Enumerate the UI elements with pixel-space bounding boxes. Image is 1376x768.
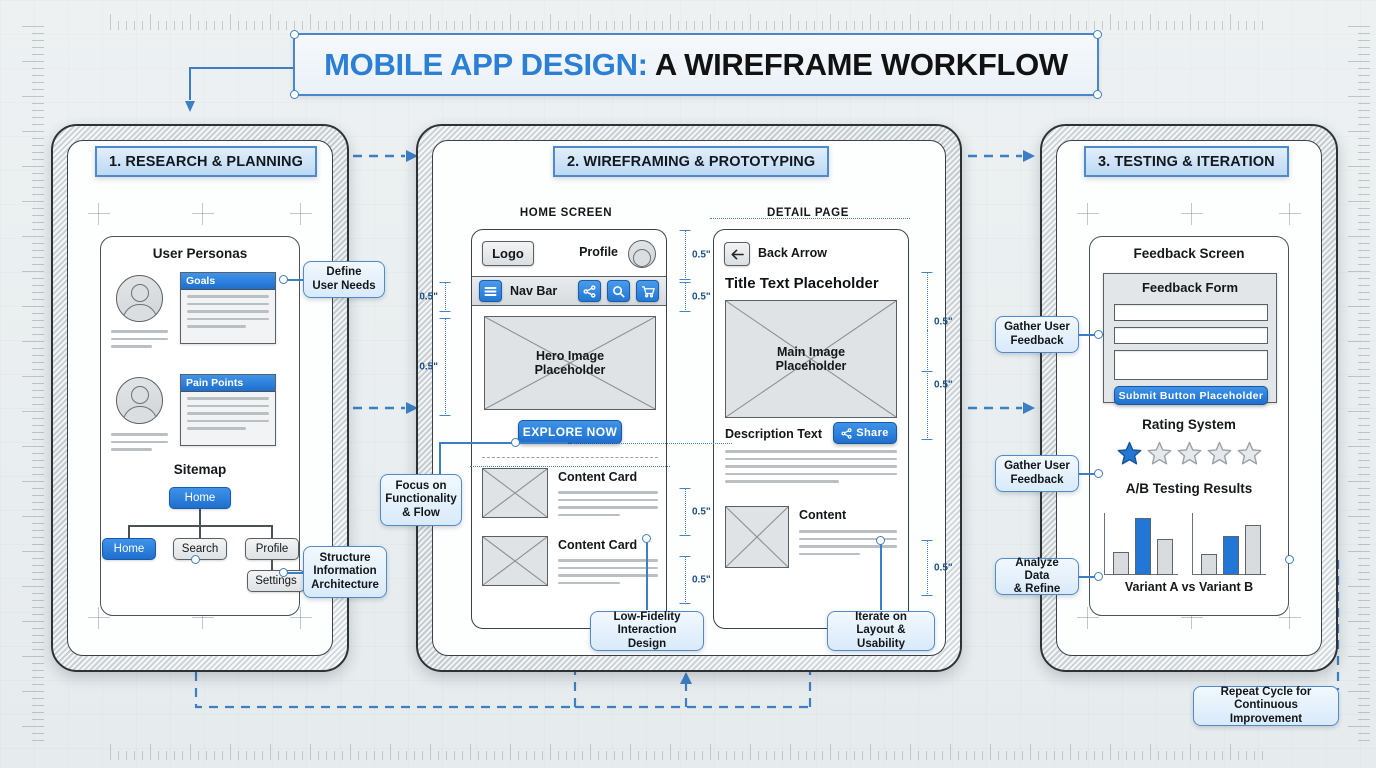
avatar	[116, 275, 163, 322]
sitemap-node-search[interactable]: Search	[173, 538, 227, 560]
callout-line: Feedback	[1010, 335, 1063, 348]
dimension-label: 0.5"	[419, 292, 438, 303]
logo-button[interactable]: Logo	[482, 241, 534, 266]
dimension-label: 0.5"	[692, 575, 711, 586]
dimension-label: 0.5"	[934, 563, 953, 574]
callout-line: & Refine	[1014, 583, 1061, 596]
ab-testing-chart	[1104, 507, 1276, 575]
hero-image-placeholder: Hero Image Placeholder	[484, 316, 656, 410]
callout-line: Structure	[319, 552, 370, 565]
search-icon[interactable]	[607, 280, 630, 302]
rating-stars[interactable]	[1090, 441, 1288, 466]
feedback-form-title: Feedback Form	[1104, 280, 1276, 295]
registration-mark	[192, 203, 214, 225]
callout-anchor-dot[interactable]	[642, 534, 651, 543]
registration-mark	[1279, 203, 1301, 225]
callout-define-user-needs[interactable]: Define User Needs	[303, 261, 385, 298]
sitemap-anchor-dot[interactable]	[191, 555, 200, 564]
callout-anchor-dot[interactable]	[1094, 330, 1103, 339]
callout-line: Continuous Improvement	[1201, 699, 1331, 725]
callout-line: Interaction Design	[598, 624, 696, 650]
panel-header-3: 3. TESTING & ITERATION	[1084, 146, 1289, 177]
sitemap-wire	[271, 525, 273, 538]
dimension-label: 0.5"	[934, 380, 953, 391]
persona-2-lines	[111, 433, 168, 456]
callout-line: Focus on	[395, 480, 446, 493]
dimension-marker: 0.5"	[920, 540, 934, 596]
back-arrow-label: Back Arrow	[758, 246, 827, 260]
share-button-label: Share	[856, 427, 889, 439]
sitemap-wire	[199, 525, 201, 538]
dimension-label: 0.5"	[419, 362, 438, 373]
sitemap-node-home[interactable]: Home	[102, 538, 156, 560]
feedback-screen-title: Feedback Screen	[1090, 246, 1288, 261]
callout-gather-user-feedback-1[interactable]: Gather User Feedback	[995, 316, 1079, 353]
persona-card-goals-label: Goals	[181, 273, 275, 290]
home-topbar: Logo Profile	[472, 230, 666, 276]
callout-line: Layout & Usability	[835, 624, 927, 650]
content-card-image	[482, 468, 548, 518]
main-image-line-1: Main Image	[777, 345, 845, 359]
title-connector	[176, 60, 300, 114]
main-image-placeholder: Main Image Placeholder	[725, 300, 897, 418]
callout-focus-on-functionality[interactable]: Focus on Functionality & Flow	[380, 474, 462, 526]
page-title: MOBILE APP DESIGN: A WIREFRAME WORKFLOW	[293, 33, 1099, 96]
dimension-label: 0.5"	[692, 507, 711, 518]
callout-line: Low-Fidelity	[613, 611, 680, 624]
callout-line: Feedback	[1010, 474, 1063, 487]
registration-mark	[88, 203, 110, 225]
panel1-app-card: User Personas Goals Pain Points	[100, 236, 300, 616]
star-4-empty[interactable]	[1207, 441, 1232, 466]
detail-title: Title Text Placeholder	[725, 275, 879, 292]
feedback-input-1[interactable]	[1114, 304, 1268, 321]
feedback-form: Feedback Form Submit Button Placeholder	[1103, 273, 1277, 403]
page-title-secondary: A WIREFRAME WORKFLOW	[648, 47, 1068, 82]
handle-bottom-left[interactable]	[290, 90, 299, 99]
callout-anchor-dot[interactable]	[1094, 572, 1103, 581]
callout-line: Repeat Cycle for	[1221, 686, 1312, 699]
callout-line: Define	[326, 266, 361, 279]
content-image-placeholder	[725, 506, 789, 568]
feedback-textarea[interactable]	[1114, 350, 1268, 380]
ruler-horizontal-bottom	[0, 734, 1376, 760]
callout-low-fidelity-interaction-design[interactable]: Low-Fidelity Interaction Design	[590, 611, 704, 651]
star-5-empty[interactable]	[1237, 441, 1262, 466]
ab-testing-title: A/B Testing Results	[1090, 481, 1288, 496]
profile-avatar-icon[interactable]	[628, 240, 656, 268]
callout-repeat-cycle[interactable]: Repeat Cycle for Continuous Improvement	[1193, 686, 1339, 726]
persona-card-pain-points: Pain Points	[180, 374, 276, 446]
hero-line-2: Placeholder	[535, 363, 606, 377]
share-button[interactable]: Share	[833, 422, 897, 444]
callout-line: Information	[313, 565, 376, 578]
callout-gather-user-feedback-2[interactable]: Gather User Feedback	[995, 455, 1079, 492]
callout-analyze-data-refine[interactable]: Analyze Data & Refine	[995, 558, 1079, 595]
ruler-horizontal-top	[0, 4, 1376, 30]
callout-anchor-dot[interactable]	[279, 275, 288, 284]
star-1-filled[interactable]	[1117, 441, 1142, 466]
explore-now-button[interactable]: EXPLORE NOW	[518, 420, 622, 444]
dimension-marker: 0.5"	[920, 330, 934, 440]
hamburger-menu-icon[interactable]	[479, 280, 502, 302]
sitemap-wire	[128, 525, 130, 538]
profile-label: Profile	[579, 245, 618, 259]
dimension-marker: 0.5"	[678, 282, 692, 312]
star-3-empty[interactable]	[1177, 441, 1202, 466]
callout-line: Iterate on	[855, 611, 907, 624]
handle-top-right[interactable]	[1093, 30, 1102, 39]
bar-2-3	[1245, 525, 1261, 575]
home-screen-caption: HOME SCREEN	[463, 207, 669, 219]
home-screen-mock: Logo Profile Nav Bar	[471, 229, 667, 629]
callout-line: Architecture	[311, 579, 379, 592]
share-icon[interactable]	[578, 280, 601, 302]
sitemap-node-root[interactable]: Home	[169, 487, 231, 509]
panel-header-1: 1. RESEARCH & PLANNING	[95, 146, 317, 177]
dimension-label: 0.5"	[692, 250, 711, 261]
bar-1-3	[1157, 539, 1173, 575]
content-card-image	[482, 536, 548, 586]
rating-system-title: Rating System	[1090, 417, 1288, 432]
hero-line-1: Hero Image	[536, 349, 604, 363]
bar-1-2	[1135, 518, 1151, 575]
content-card-title: Content Card	[558, 470, 658, 484]
callout-line: Functionality	[385, 493, 457, 506]
callout-lead	[880, 540, 882, 610]
nav-bar: Nav Bar	[472, 276, 666, 306]
sitemap-title: Sitemap	[101, 462, 299, 477]
persona-card-goals: Goals	[180, 272, 276, 344]
dimension-span-horizontal	[710, 218, 910, 219]
dimension-marker: 0.5"	[438, 282, 452, 312]
loop-anchor-dot[interactable]	[1285, 555, 1294, 564]
callout-anchor-dot[interactable]	[876, 536, 885, 545]
submit-button-placeholder[interactable]: Submit Button Placeholder	[1114, 386, 1268, 405]
persona-1-lines	[111, 330, 168, 353]
handle-top-left[interactable]	[290, 30, 299, 39]
callout-line: User Needs	[312, 280, 375, 293]
callout-lead	[646, 538, 648, 610]
dimension-span-horizontal	[470, 466, 670, 467]
ab-testing-caption: Variant A vs Variant B	[1090, 580, 1288, 594]
panel1-screen: User Personas Goals Pain Points	[67, 140, 333, 656]
persona-card-pain-points-label: Pain Points	[181, 375, 275, 392]
panel3-app-card: Feedback Screen Feedback Form Submit But…	[1089, 236, 1289, 616]
callout-anchor-dot[interactable]	[511, 438, 520, 447]
description-label: Description Text	[725, 427, 822, 441]
registration-mark	[290, 203, 312, 225]
user-personas-title: User Personas	[101, 246, 299, 261]
back-arrow-icon[interactable]	[724, 242, 750, 266]
feedback-input-2[interactable]	[1114, 327, 1268, 344]
registration-mark	[1181, 203, 1203, 225]
callout-anchor-dot[interactable]	[279, 568, 288, 577]
dimension-marker: 0.5"	[678, 488, 692, 536]
callout-line: Analyze Data	[1003, 557, 1071, 583]
ruler-vertical-left	[6, 0, 44, 768]
dimension-marker: 0.5"	[678, 556, 692, 604]
divider	[482, 457, 658, 458]
nav-bar-label: Nav Bar	[510, 284, 557, 298]
page-title-primary: MOBILE APP DESIGN:	[324, 47, 648, 82]
sitemap-wire	[199, 509, 201, 525]
dimension-label: 0.5"	[934, 317, 953, 328]
callout-line: Gather User	[1004, 321, 1070, 334]
content-title: Content	[799, 508, 897, 522]
sitemap-node-profile[interactable]: Profile	[245, 538, 299, 560]
callout-line: Gather User	[1004, 460, 1070, 473]
panel-header-2: 2. WIREFRAMING & PROTOTYPING	[553, 146, 829, 177]
dimension-label: 0.5"	[692, 292, 711, 303]
avatar	[116, 377, 163, 424]
dimension-marker: 0.5"	[438, 318, 452, 416]
bar-1-1	[1113, 552, 1129, 575]
registration-mark	[1077, 203, 1099, 225]
callout-iterate-on-layout[interactable]: Iterate on Layout & Usability	[827, 611, 935, 651]
callout-anchor-dot[interactable]	[1094, 469, 1103, 478]
callout-line: & Flow	[402, 507, 440, 520]
main-image-line-2: Placeholder	[776, 359, 847, 373]
handle-bottom-right[interactable]	[1093, 90, 1102, 99]
dimension-span-horizontal	[572, 443, 732, 444]
callout-structure-information-architecture[interactable]: Structure Information Architecture	[303, 546, 387, 598]
bar-2-2	[1223, 536, 1239, 575]
bar-2-1	[1201, 554, 1217, 575]
dimension-marker: 0.5"	[678, 230, 692, 280]
panel-testing-iteration: Feedback Screen Feedback Form Submit But…	[1040, 124, 1338, 672]
cart-icon[interactable]	[636, 280, 659, 302]
star-2-empty[interactable]	[1147, 441, 1172, 466]
description-lines	[725, 450, 897, 488]
